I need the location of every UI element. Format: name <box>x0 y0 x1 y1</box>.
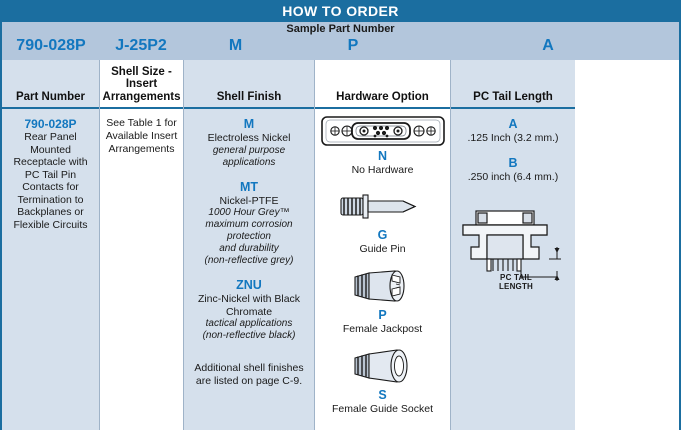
dsub-connector-face-icon <box>320 114 446 148</box>
shell-finish-note-znu-0: tactical applications <box>188 318 310 330</box>
cell-hardware-option: N No Hardware <box>315 109 450 430</box>
pc-tail-code-a: A <box>455 117 571 132</box>
banner-title: HOW TO ORDER <box>0 0 681 22</box>
cell-pc-tail-length: A .125 Inch (3.2 mm.) B .250 inch (6.4 m… <box>451 109 575 430</box>
column-shell-size: Shell Size - Insert Arrangements See Tab… <box>100 60 184 430</box>
female-guide-socket-icon <box>343 345 423 387</box>
hardware-option-g: G Guide Pin <box>319 187 446 256</box>
pc-tail-label-a: .125 Inch (3.2 mm.) <box>455 132 571 145</box>
sample-code-pc-tail: A <box>417 36 679 55</box>
shell-finish-name-mt: Nickel-PTFE <box>188 195 310 208</box>
header-shell-size: Shell Size - Insert Arrangements <box>100 60 183 109</box>
pc-tail-code-b: B <box>455 156 571 171</box>
specification-grid: Part Number 790-028P Rear Panel Mounted … <box>0 60 681 430</box>
shell-finish-option-znu: ZNU Zinc-Nickel with Black Chromate tact… <box>188 278 310 342</box>
sample-code-shell-finish: M <box>182 36 289 55</box>
hardware-label-s: Female Guide Socket <box>332 403 433 416</box>
header-part-number-label: Part Number <box>16 91 85 104</box>
shell-finish-option-m: M Electroless Nickel general purpose app… <box>188 117 310 169</box>
hardware-code-g: G <box>378 228 388 243</box>
guide-pin-icon <box>333 187 433 227</box>
how-to-order-table: HOW TO ORDER Sample Part Number 790-028P… <box>0 0 681 430</box>
shell-finish-name-znu: Zinc-Nickel with Black Chromate <box>188 293 310 318</box>
part-number-description: Rear Panel Mounted Receptacle with PC Ta… <box>6 131 95 231</box>
sample-code-hardware: P <box>289 36 417 55</box>
sample-code-part-number: 790-028P <box>2 36 100 55</box>
sample-part-number-label: Sample Part Number <box>2 22 679 35</box>
hardware-label-g: Guide Pin <box>359 243 405 256</box>
shell-finish-option-mt: MT Nickel-PTFE 1000 Hour Grey™ maximum c… <box>188 180 310 268</box>
shell-finish-note-mt-1: maximum corrosion protection <box>188 219 310 243</box>
header-hardware-option: Hardware Option <box>315 60 450 109</box>
column-pc-tail-length: PC Tail Length A .125 Inch (3.2 mm.) B .… <box>451 60 575 430</box>
header-shell-size-line3: Arrangements <box>103 91 181 104</box>
header-shell-size-line1: Shell Size - <box>103 66 181 79</box>
header-part-number: Part Number <box>2 60 99 109</box>
shell-finish-note-mt-0: 1000 Hour Grey™ <box>188 207 310 219</box>
hardware-code-n: N <box>378 149 387 164</box>
cell-shell-size: See Table 1 for Available Insert Arrange… <box>100 109 183 430</box>
hardware-label-n: No Hardware <box>352 164 414 177</box>
header-shell-size-line2: Insert <box>103 78 181 91</box>
shell-finish-name-m: Electroless Nickel <box>188 132 310 145</box>
shell-finish-note-mt-3: (non-reflective grey) <box>188 255 310 267</box>
sample-part-number-band: Sample Part Number 790-028P J-25P2 M P A <box>0 22 681 60</box>
header-shell-finish: Shell Finish <box>184 60 314 109</box>
hardware-option-p: P Female Jackpost <box>319 265 446 336</box>
hardware-option-s: S Female Guide Socket <box>319 345 446 416</box>
shell-finish-note-mt-2: and durability <box>188 243 310 255</box>
shell-finish-code-m: M <box>188 117 310 132</box>
shell-finish-code-znu: ZNU <box>188 278 310 293</box>
shell-finish-note-znu-1: (non-reflective black) <box>188 330 310 342</box>
column-shell-finish: Shell Finish M Electroless Nickel genera… <box>184 60 315 430</box>
column-hardware-option: Hardware Option <box>315 60 451 430</box>
shell-finish-footnote: Additional shell finishes are listed on … <box>188 362 310 387</box>
part-number-code: 790-028P <box>6 117 95 131</box>
header-shell-finish-label: Shell Finish <box>217 91 282 104</box>
hardware-label-p: Female Jackpost <box>343 323 422 336</box>
pc-tail-option-b: B .250 inch (6.4 mm.) <box>455 156 571 184</box>
cell-part-number: 790-028P Rear Panel Mounted Receptacle w… <box>2 109 99 430</box>
cell-shell-finish: M Electroless Nickel general purpose app… <box>184 109 314 430</box>
sample-part-number-codes: 790-028P J-25P2 M P A <box>2 36 679 55</box>
header-pc-tail-length-label: PC Tail Length <box>473 91 553 104</box>
column-part-number: Part Number 790-028P Rear Panel Mounted … <box>2 60 100 430</box>
hardware-option-n: N No Hardware <box>319 114 446 177</box>
hardware-code-s: S <box>378 388 386 403</box>
sample-code-shell-size: J-25P2 <box>100 36 182 55</box>
pc-tail-option-a: A .125 Inch (3.2 mm.) <box>455 117 571 145</box>
header-hardware-option-label: Hardware Option <box>336 91 429 104</box>
shell-size-note: See Table 1 for Available Insert Arrange… <box>104 117 179 156</box>
header-pc-tail-length: PC Tail Length <box>451 60 575 109</box>
shell-finish-note-m-0: general purpose applications <box>188 145 310 169</box>
pc-tail-label-b: .250 inch (6.4 mm.) <box>455 171 571 184</box>
hardware-code-p: P <box>378 308 386 323</box>
female-jackpost-icon <box>343 265 423 307</box>
shell-finish-code-mt: MT <box>188 180 310 195</box>
